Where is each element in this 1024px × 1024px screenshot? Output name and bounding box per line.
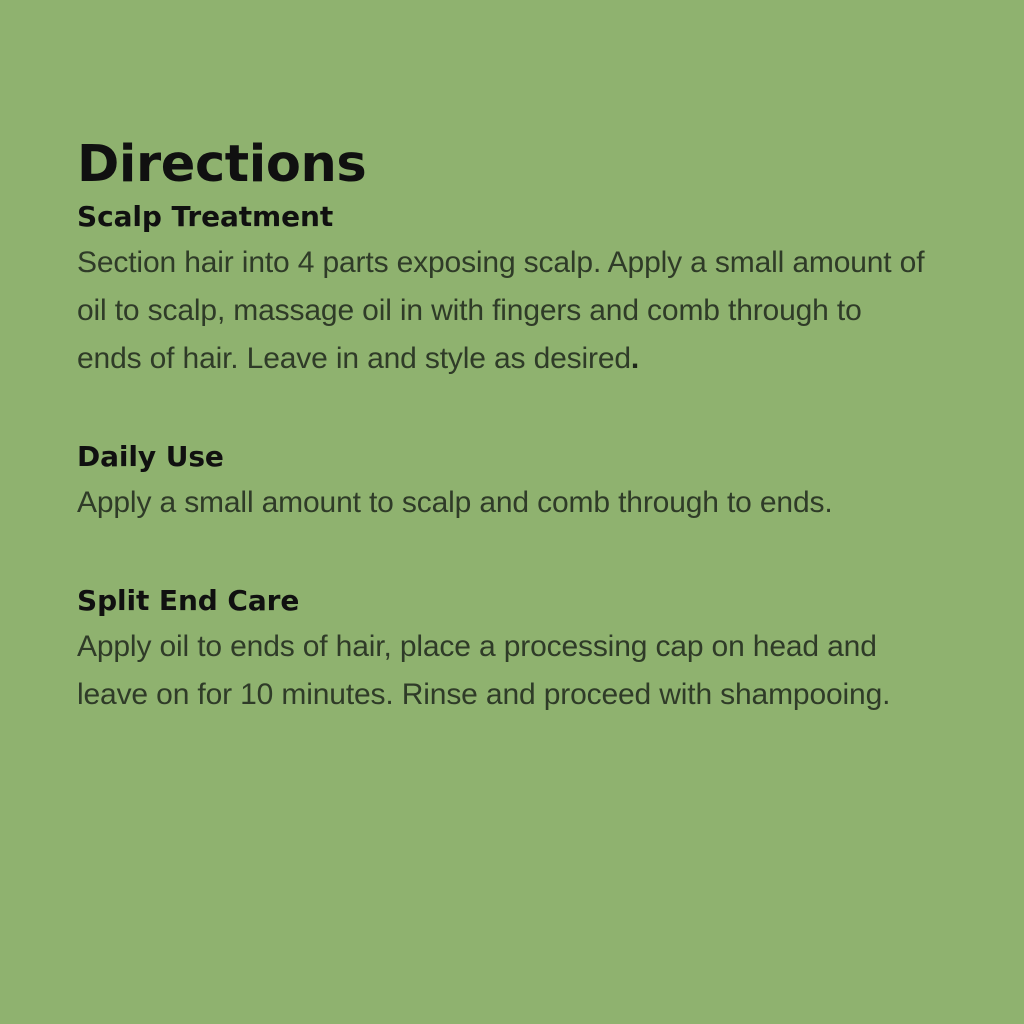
section-daily-use: Daily Use Apply a small amount to scalp … [77,439,927,527]
section-body-scalp-treatment: Section hair into 4 parts exposing scalp… [77,239,927,383]
section-heading-split-end-care: Split End Care [77,583,927,620]
section-split-end-care: Split End Care Apply oil to ends of hair… [77,583,927,719]
section-body-daily-use: Apply a small amount to scalp and comb t… [77,479,927,527]
directions-content: Directions Scalp Treatment Section hair … [77,136,927,719]
section-body-text-daily-use: Apply a small amount to scalp and comb t… [77,486,833,519]
section-body-text-split-end-care: Apply oil to ends of hair, place a proce… [77,630,890,711]
directions-card: Directions Scalp Treatment Section hair … [0,0,1024,1024]
section-heading-daily-use: Daily Use [77,439,927,476]
section-scalp-treatment: Scalp Treatment Section hair into 4 part… [77,199,927,383]
section-body-split-end-care: Apply oil to ends of hair, place a proce… [77,623,927,719]
page-title: Directions [77,136,927,193]
section-heading-scalp-treatment: Scalp Treatment [77,199,927,236]
section-body-trailing-stop-scalp-treatment: . [631,342,639,375]
section-body-text-scalp-treatment: Section hair into 4 parts exposing scalp… [77,246,933,375]
